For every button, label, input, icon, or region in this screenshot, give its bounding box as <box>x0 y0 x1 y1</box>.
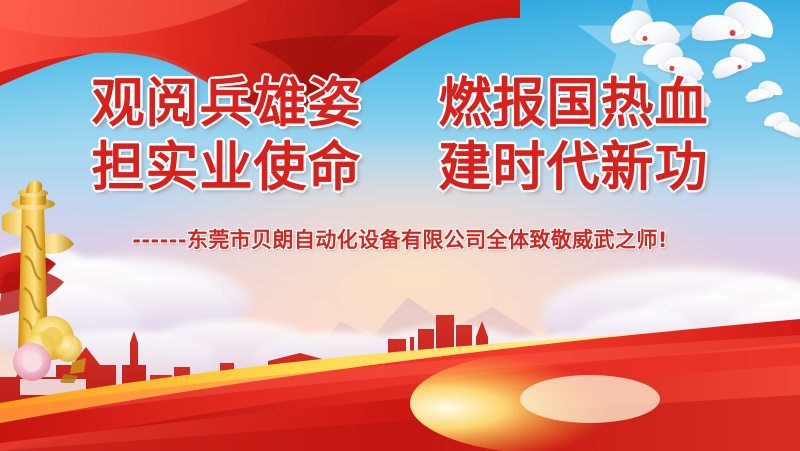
poster-canvas: 观阅兵雄姿 燃报国热血 担实业使命 建时代新功 ------东莞市贝朗自动化设备… <box>0 0 800 451</box>
subtitle-text: ------东莞市贝朗自动化设备有限公司全体致敬威武之师! <box>0 224 800 254</box>
headline-line2-right: 建时代新功 <box>438 137 708 198</box>
headline-line1-right: 燃报国热血 <box>438 73 708 134</box>
red-ribbons <box>0 291 800 451</box>
headline-line-2: 担实业使命 建时代新功 <box>0 136 800 200</box>
headline-block: 观阅兵雄姿 燃报国热血 担实业使命 建时代新功 <box>0 72 800 200</box>
headline-line1-left: 观阅兵雄姿 <box>92 73 362 134</box>
headline-line-1: 观阅兵雄姿 燃报国热血 <box>0 72 800 136</box>
headline-line2-left: 担实业使命 <box>92 137 362 198</box>
huabiao-column <box>0 178 118 383</box>
